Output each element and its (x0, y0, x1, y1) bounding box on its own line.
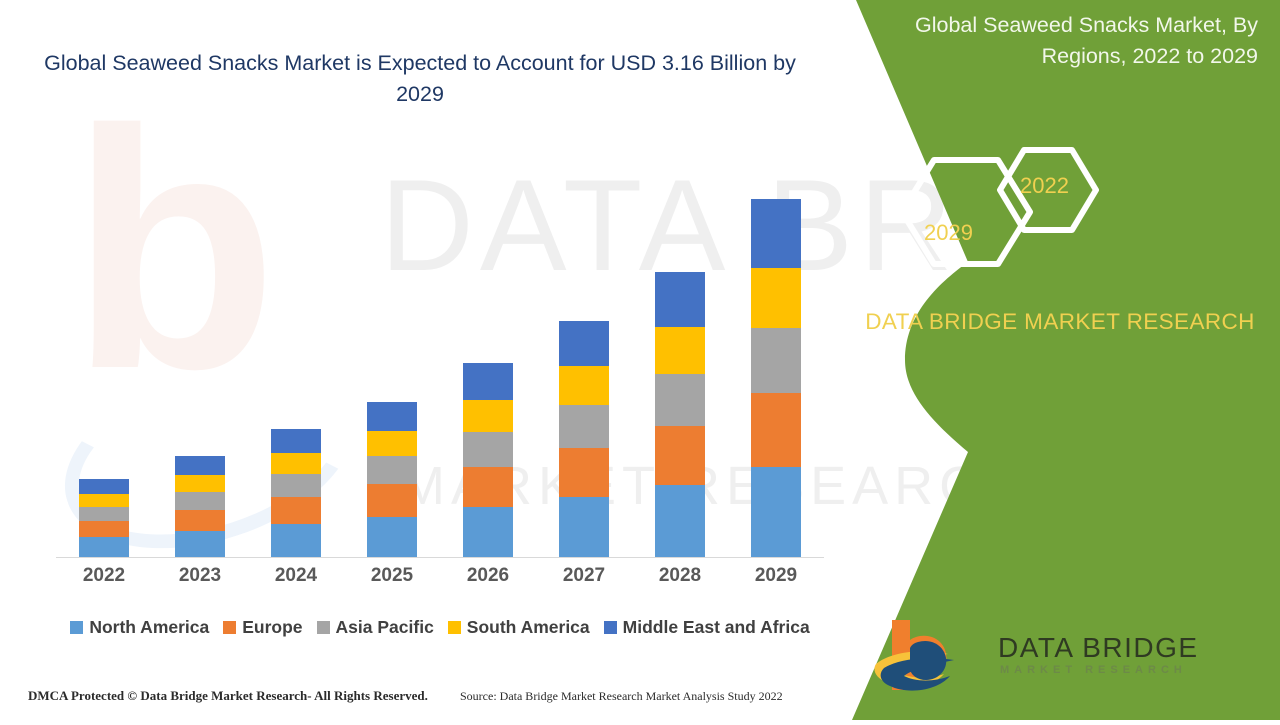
bar-segment[interactable] (271, 497, 321, 524)
logo-mark-icon (870, 612, 990, 702)
bar-stack[interactable] (655, 272, 705, 557)
bar-segment[interactable] (463, 363, 513, 400)
x-axis-label: 2023 (152, 565, 248, 587)
x-axis-labels: 20222023202420252026202720282029 (56, 565, 824, 587)
legend-swatch-icon (448, 621, 461, 634)
x-axis-label: 2027 (536, 565, 632, 587)
bar-segment[interactable] (175, 510, 225, 531)
bar-segment[interactable] (79, 521, 129, 537)
chart-legend: North AmericaEuropeAsia PacificSouth Ame… (50, 617, 830, 638)
bar-segment[interactable] (751, 393, 801, 467)
footer-source-note: Source: Data Bridge Market Research Mark… (460, 689, 783, 704)
bar-segment[interactable] (79, 479, 129, 494)
bar-segment[interactable] (655, 485, 705, 557)
x-axis-label: 2025 (344, 565, 440, 587)
bar-group-2022 (56, 479, 152, 557)
bar-stack[interactable] (751, 199, 801, 557)
brand-name: DATA BRIDGE MARKET RESEARCH (860, 305, 1260, 339)
legend-swatch-icon (70, 621, 83, 634)
bar-segment[interactable] (463, 507, 513, 557)
legend-label: South America (467, 617, 590, 638)
bar-stack[interactable] (559, 321, 609, 557)
bar-segment[interactable] (463, 467, 513, 507)
bar-segment[interactable] (175, 531, 225, 557)
bar-group-2024 (248, 429, 344, 557)
bar-stack[interactable] (463, 363, 513, 557)
bar-segment[interactable] (79, 537, 129, 557)
bar-segment[interactable] (559, 366, 609, 405)
bar-segment[interactable] (271, 524, 321, 557)
panel-content: Global Seaweed Snacks Market, By Regions… (860, 0, 1280, 720)
bar-segment[interactable] (367, 402, 417, 431)
bar-segment[interactable] (271, 474, 321, 497)
hexagon-group: 2029 2022 (872, 132, 1172, 292)
legend-item[interactable]: Asia Pacific (317, 617, 434, 638)
hex-2029-label: 2029 (924, 220, 973, 246)
footer-dmca-notice: DMCA Protected © Data Bridge Market Rese… (28, 688, 428, 704)
footer: DMCA Protected © Data Bridge Market Rese… (0, 678, 860, 720)
bar-segment[interactable] (79, 494, 129, 507)
bar-segment[interactable] (175, 475, 225, 492)
bar-group-2023 (152, 456, 248, 557)
hex-2022-label: 2022 (1020, 173, 1069, 199)
legend-item[interactable]: North America (70, 617, 209, 638)
bar-stack[interactable] (175, 456, 225, 557)
bar-segment[interactable] (367, 431, 417, 456)
bar-segment[interactable] (367, 484, 417, 517)
bar-segment[interactable] (751, 328, 801, 393)
bar-segment[interactable] (367, 517, 417, 557)
legend-label: Middle East and Africa (623, 617, 810, 638)
bar-segment[interactable] (463, 400, 513, 432)
x-axis-label: 2026 (440, 565, 536, 587)
bar-segment[interactable] (655, 426, 705, 485)
bar-segment[interactable] (751, 467, 801, 557)
bar-segment[interactable] (559, 497, 609, 557)
panel-title: Global Seaweed Snacks Market, By Regions… (888, 10, 1258, 72)
logo-wordmark: DATA BRIDGE (998, 632, 1199, 664)
bar-segment[interactable] (367, 456, 417, 484)
bar-segment[interactable] (463, 432, 513, 467)
legend-swatch-icon (317, 621, 330, 634)
legend-item[interactable]: Middle East and Africa (604, 617, 810, 638)
bar-stack[interactable] (271, 429, 321, 557)
hexagons-icon (872, 132, 1172, 292)
bar-segment[interactable] (271, 453, 321, 474)
bar-group-2025 (344, 402, 440, 557)
x-axis-line (56, 557, 824, 558)
bar-stack[interactable] (79, 479, 129, 557)
bars-container (56, 157, 824, 557)
bar-segment[interactable] (79, 507, 129, 521)
bar-segment[interactable] (655, 374, 705, 426)
bar-group-2026 (440, 363, 536, 557)
legend-item[interactable]: Europe (223, 617, 302, 638)
legend-label: North America (89, 617, 209, 638)
x-axis-label: 2024 (248, 565, 344, 587)
bar-segment[interactable] (655, 272, 705, 327)
bar-segment[interactable] (175, 492, 225, 510)
chart-panel: Global Seaweed Snacks Market is Expected… (0, 0, 860, 720)
bar-segment[interactable] (175, 456, 225, 475)
bar-segment[interactable] (559, 405, 609, 448)
legend-item[interactable]: South America (448, 617, 590, 638)
data-bridge-logo: DATA BRIDGE MARKET RESEARCH (870, 612, 1270, 708)
bar-segment[interactable] (559, 448, 609, 497)
x-axis-label: 2028 (632, 565, 728, 587)
bar-group-2027 (536, 321, 632, 557)
bar-stack[interactable] (367, 402, 417, 557)
legend-label: Europe (242, 617, 302, 638)
bar-segment[interactable] (655, 327, 705, 374)
bar-segment[interactable] (271, 429, 321, 453)
legend-swatch-icon (223, 621, 236, 634)
legend-label: Asia Pacific (336, 617, 434, 638)
chart-title: Global Seaweed Snacks Market is Expected… (40, 48, 800, 110)
bar-segment[interactable] (751, 268, 801, 328)
logo-subtext: MARKET RESEARCH (1000, 664, 1187, 676)
x-axis-label: 2029 (728, 565, 824, 587)
x-axis-label: 2022 (56, 565, 152, 587)
bar-group-2029 (728, 199, 824, 557)
legend-swatch-icon (604, 621, 617, 634)
bar-group-2028 (632, 272, 728, 557)
bar-segment[interactable] (751, 199, 801, 268)
bar-segment[interactable] (559, 321, 609, 366)
plot-area (56, 150, 824, 558)
